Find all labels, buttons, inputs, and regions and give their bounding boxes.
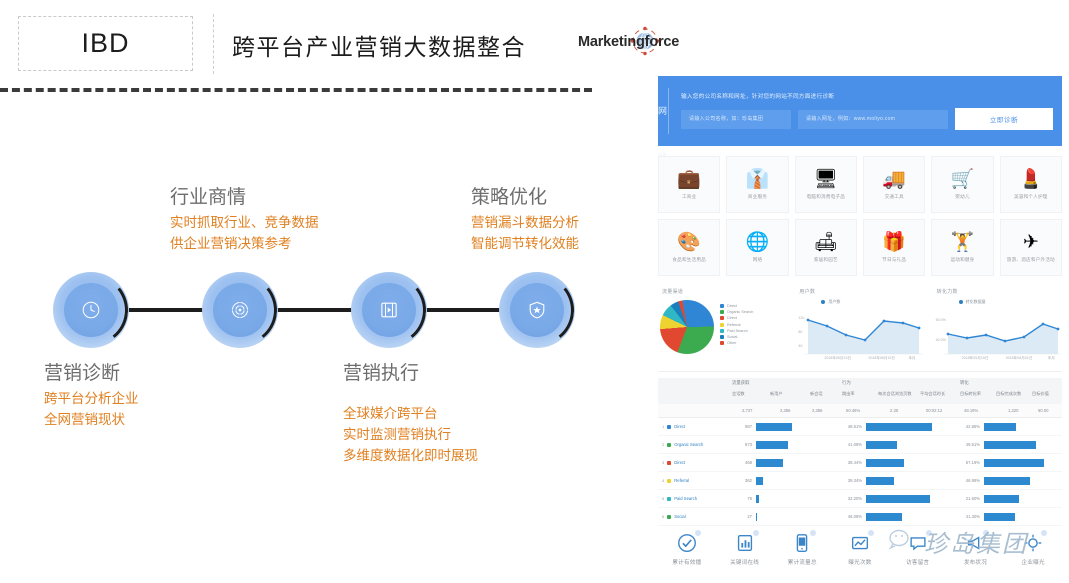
kpi-item[interactable]: 关键词在线	[716, 532, 774, 580]
website-score-tip: 输入您的公司名称和网址，针对您的网站不同方面进行诊断	[681, 92, 1053, 100]
table-group-header: 流量获取 会话数 新用户 新会话 行为 跳出率 每次会话浏览页数 平均会话时长	[658, 378, 1062, 404]
group-lines-3: 全球媒介跨平台 实时监测营销执行 多维度数据化即时展现	[343, 403, 478, 466]
conversion-cell: 49.51%	[958, 441, 1062, 449]
sofa-icon: 🛋	[814, 233, 838, 253]
group-line: 智能调节转化效能	[471, 233, 579, 254]
legend-label: Other	[727, 341, 737, 345]
kpi-item[interactable]: 累计有效播	[658, 532, 716, 580]
logo-wordmark: Marketingforce	[578, 34, 679, 50]
header-divider	[213, 14, 214, 74]
industry-tile[interactable]: 💄 美容和个人护理	[1000, 156, 1062, 213]
kpi-label: 访客留言	[906, 558, 929, 566]
summary-value: 2,737	[730, 404, 768, 417]
acquisition-cell: 468	[730, 459, 840, 467]
area-plot-svg	[936, 308, 1061, 362]
legend-label: Referral	[727, 323, 741, 327]
group-name: 转化	[960, 380, 969, 386]
row-label[interactable]: Direct	[674, 460, 685, 465]
conversion-bar	[984, 477, 1030, 485]
legend-label: 转化数据量	[966, 299, 986, 305]
area-plot-svg	[798, 308, 923, 362]
row-label[interactable]: Direct	[674, 424, 685, 429]
table-row[interactable]: 1Direct98748.51%42.86%	[658, 418, 1062, 436]
conversion-cell: 57.19%	[958, 459, 1062, 467]
legend-dot	[959, 300, 963, 304]
behavior-cell: 38.44%	[840, 459, 958, 467]
acquisition-bar	[756, 459, 783, 467]
area-plot: 120 80 40 2018年05月15日 2018年06月15日 本月	[798, 308, 923, 362]
group-line: 全网营销现状	[44, 409, 139, 430]
shield-star-icon	[526, 299, 548, 321]
megaphone-icon	[964, 532, 986, 554]
badge-dot	[810, 530, 816, 536]
kpi-item[interactable]: 访客留言	[889, 532, 947, 580]
industry-tile[interactable]: 🎨 食品和生活用品	[658, 219, 720, 276]
table-row[interactable]: 4Referral36239.34%46.99%	[658, 472, 1062, 490]
column-header[interactable]: 目标完成次数	[996, 391, 1032, 397]
process-diagram: 营销诊断 跨平台分析企业 全网营销现状 行业商情 实时抓取行业、竞争数据 供企业…	[0, 100, 650, 583]
legend-item: Referral	[720, 323, 753, 327]
row-index: 4	[662, 478, 664, 483]
industry-tile-label: 节日与礼品	[880, 257, 908, 263]
industry-tile-label: 旅游、酒店和户外活动	[1005, 257, 1057, 263]
conversion-bar	[984, 513, 1015, 521]
conversion-bar	[984, 423, 1016, 431]
behavior-value: 32.20%	[840, 496, 862, 501]
industry-tile[interactable]: 👔 商业服务	[726, 156, 788, 213]
acquisition-value: 79	[730, 496, 752, 501]
summary-value: ¥0.00	[1030, 404, 1062, 417]
mobile-icon	[791, 532, 813, 554]
industry-tile-label: 食品和生活用品	[670, 257, 708, 263]
industry-tile[interactable]: 🎁 节日与礼品	[863, 219, 925, 276]
industry-tile-label: 电脑和消费电子品	[805, 194, 847, 200]
row-label-cell: 6Social	[658, 514, 730, 519]
row-index: 2	[662, 442, 664, 447]
industry-tile-label: 家居和园艺	[812, 257, 840, 263]
cosmetics-icon: 💄	[1019, 170, 1043, 190]
row-swatch	[667, 515, 671, 519]
legend-swatch	[720, 316, 724, 320]
table-row[interactable]: 6Social2746.09%41.30%	[658, 508, 1062, 526]
legend-label: Direct	[727, 304, 737, 308]
diagnose-button[interactable]: 立即诊断	[955, 108, 1053, 130]
node-core	[510, 283, 564, 337]
y-tick: 80	[798, 330, 802, 334]
company-name-input[interactable]: 请输入公司名称，如：珍岛集团	[681, 110, 791, 129]
check-circle-icon	[676, 532, 698, 554]
acquisition-cell: 79	[730, 495, 840, 503]
acquisition-value: 27	[730, 514, 752, 519]
column-header[interactable]: 新会话	[810, 391, 842, 397]
conversion-area-chart: 转化力数 转化数据量 50.0% 40	[933, 286, 1062, 371]
slide-header: IBD 跨平台产业营销大数据整合 Marketingforce	[0, 0, 660, 78]
row-label[interactable]: Social	[674, 514, 685, 519]
legend-dot	[821, 300, 825, 304]
group-subs: 会话数 新用户 新会话	[732, 391, 842, 397]
column-header[interactable]: 每次会话浏览页数	[878, 391, 920, 397]
summary-value: 2.35	[876, 404, 918, 417]
row-label-cell: 4Referral	[658, 478, 730, 483]
group-line: 全球媒介跨平台	[343, 403, 478, 424]
group-cell-conversion: 转化 目标转化率 目标完成次数 目标价值	[958, 378, 1062, 404]
acquisition-bar	[756, 423, 792, 431]
kpi-item[interactable]: 企业曝光	[1004, 532, 1062, 580]
group-lines-2: 实时抓取行业、竞争数据 供企业营销决策参考	[170, 212, 319, 254]
kpi-label: 发布状况	[964, 558, 987, 566]
monitor-icon: 🖥	[814, 170, 838, 190]
behavior-bar	[866, 459, 904, 467]
summary-value: 2,386	[808, 404, 840, 417]
process-node-1[interactable]	[53, 272, 129, 348]
row-index: 5	[662, 496, 664, 501]
row-label-cell: 1Direct	[658, 424, 730, 429]
behavior-bar	[866, 513, 902, 521]
y-tick: 50.0%	[936, 318, 946, 322]
behavior-bar	[866, 495, 930, 503]
pie-legend: Direct Organic Search Direct Referral Pa…	[720, 304, 753, 347]
industry-tile-label: 美容和个人护理	[1012, 194, 1050, 200]
video-frame-icon	[378, 299, 400, 321]
group-cell-acquisition: 流量获取 会话数 新用户 新会话	[730, 378, 840, 404]
behavior-bar	[866, 441, 897, 449]
group-line: 营销漏斗数据分析	[471, 212, 579, 233]
conversion-bar	[984, 459, 1044, 467]
legend-swatch	[720, 310, 724, 314]
legend-label: Organic Search	[727, 310, 753, 314]
dashboard-screenshot: 网站评分 输入您的公司名称和网址，针对您的网站不同方面进行诊断 请输入公司名称，…	[650, 70, 1069, 583]
acquisition-bar	[756, 441, 788, 449]
conversion-cell: 42.86%	[958, 423, 1062, 431]
acquisition-cell: 362	[730, 477, 840, 485]
legend-item: Organic Search	[720, 310, 753, 314]
acquisition-cell: 27	[730, 513, 840, 521]
palette-icon: 🎨	[677, 233, 701, 253]
group-line: 供企业营销决策参考	[170, 233, 319, 254]
kpi-row: 累计有效播 关键词在线 累计流量总	[658, 532, 1062, 580]
y-tick: 40	[798, 344, 802, 348]
legend-item: Direct	[720, 304, 753, 308]
table-row[interactable]: 2Organic Search87341.09%49.51%	[658, 436, 1062, 454]
kpi-item[interactable]: 曝光次数	[831, 532, 889, 580]
row-label[interactable]: Paid Search	[674, 496, 697, 501]
legend-swatch	[720, 341, 724, 345]
table-body: 1Direct98748.51%42.86%2Organic Search873…	[658, 418, 1062, 526]
table-row[interactable]: 3Direct46838.44%57.19%	[658, 454, 1062, 472]
conversion-bar	[984, 441, 1036, 449]
x-tick: 本月	[1048, 356, 1055, 361]
row-swatch	[667, 497, 671, 501]
conversion-cell: 21.60%	[958, 495, 1062, 503]
acquisition-bar	[756, 495, 759, 503]
marketingforce-logo: Marketingforce	[578, 24, 703, 64]
industry-tile[interactable]: 🛋 家居和园艺	[795, 219, 857, 276]
behavior-cell: 39.34%	[840, 477, 958, 485]
message-icon	[907, 532, 929, 554]
group-name: 行为	[842, 380, 851, 386]
row-label[interactable]: Referral	[674, 478, 689, 483]
table-row[interactable]: 5Paid Search7932.20%21.60%	[658, 490, 1062, 508]
behavior-value: 48.51%	[840, 424, 862, 429]
column-header[interactable]: 目标转化率	[960, 391, 996, 397]
airplane-icon: ✈	[1023, 233, 1039, 253]
group-title-2: 行业商情	[170, 182, 246, 209]
website-score-form: 请输入公司名称，如：珍岛集团 请输入网址，例如：www.moliyo.com 立…	[681, 108, 1053, 130]
suit-icon: 👔	[746, 170, 770, 190]
legend-label: Direct	[727, 316, 737, 320]
x-tick: 2018年06月01日	[1006, 356, 1033, 361]
process-node-2[interactable]	[202, 272, 278, 348]
pie-graphic	[660, 300, 714, 354]
industry-tile-label: 工商业	[680, 194, 698, 200]
legend-swatch	[720, 304, 724, 308]
summary-value: 1,320	[994, 404, 1030, 417]
summary-value: 2,386	[768, 404, 808, 417]
behavior-value: 39.34%	[840, 478, 862, 483]
behavior-bar	[866, 423, 932, 431]
badge-dot	[695, 530, 701, 536]
industry-tile-label: 交通工具	[883, 194, 906, 200]
row-swatch	[667, 425, 671, 429]
acquisition-cell: 873	[730, 441, 840, 449]
badge-dot	[983, 530, 989, 536]
chart-title: 流量渠道	[662, 288, 787, 295]
group-line: 实时抓取行业、竞争数据	[170, 212, 319, 233]
group-line: 跨平台分析企业	[44, 388, 139, 409]
kpi-label: 关键词在线	[730, 558, 759, 566]
behavior-value: 46.09%	[840, 514, 862, 519]
legend-label: Paid Search	[727, 329, 748, 333]
summary-value: 50.46%	[840, 404, 876, 417]
chart-row: 流量渠道 Direct Organic Search Direct Referr…	[658, 286, 1062, 372]
column-header[interactable]: 跳出率	[842, 391, 878, 397]
column-header[interactable]: 新用户	[770, 391, 810, 397]
industry-tile[interactable]: ✈ 旅游、酒店和户外活动	[1000, 219, 1062, 276]
conversion-value: 49.51%	[958, 442, 980, 447]
kpi-item[interactable]: 累计流量总	[773, 532, 831, 580]
badge-dot	[868, 530, 874, 536]
summary-value: 00:02:12	[918, 404, 958, 417]
legend-swatch	[720, 329, 724, 333]
process-node-3[interactable]	[351, 272, 427, 348]
group-title-4: 策略优化	[471, 182, 547, 209]
legend-item: Direct	[720, 316, 753, 320]
chart-title: 用户数	[799, 288, 924, 295]
row-label-cell: 5Paid Search	[658, 496, 730, 501]
document-chart-icon	[734, 532, 756, 554]
conversion-value: 42.86%	[958, 424, 980, 429]
radar-target-icon	[229, 299, 251, 321]
x-tick: 2018年05月15日	[962, 356, 989, 361]
x-tick: 本月	[908, 356, 915, 361]
group-lines-1: 跨平台分析企业 全网营销现状	[44, 388, 139, 430]
badge-dot	[1041, 530, 1047, 536]
process-node-4[interactable]	[499, 272, 575, 348]
y-tick: 120	[798, 316, 804, 320]
clock-icon	[80, 299, 102, 321]
chart-legend: 用户数	[821, 299, 924, 305]
behavior-value: 41.09%	[840, 442, 862, 447]
stroller-icon: 🛒	[951, 170, 975, 190]
node-core	[64, 283, 118, 337]
x-tick: 2018年05月15日	[824, 356, 851, 361]
behavior-cell: 32.20%	[840, 495, 958, 503]
industry-tile[interactable]: 🌐 网络	[726, 219, 788, 276]
row-swatch	[667, 479, 671, 483]
legend-swatch	[720, 323, 724, 327]
kpi-label: 累计有效播	[672, 558, 701, 566]
area-plot: 50.0% 40.0% 2018年05月15日 2018年06月01日 本月	[936, 308, 1061, 362]
header-dashed-rule	[0, 88, 592, 92]
industry-tile[interactable]: 🖥 电脑和消费电子品	[795, 156, 857, 213]
conversion-cell: 41.30%	[958, 513, 1062, 521]
chart-title: 转化力数	[937, 288, 1062, 295]
conversion-bar	[984, 495, 1019, 503]
conversion-value: 57.19%	[958, 460, 980, 465]
group-cell-blank	[658, 378, 730, 404]
website-score-panel: 网站评分 输入您的公司名称和网址，针对您的网站不同方面进行诊断 请输入公司名称，…	[658, 76, 1062, 146]
website-score-title: 网站评分	[658, 88, 669, 134]
acquisition-bar	[756, 477, 763, 485]
group-title-3: 营销执行	[343, 358, 419, 385]
badge-dot	[926, 530, 932, 536]
industry-tile[interactable]: 💼 工商业	[658, 156, 720, 213]
row-label-cell: 3Direct	[658, 460, 730, 465]
legend-item: Other	[720, 341, 753, 345]
channel-table: 流量获取 会话数 新用户 新会话 行为 跳出率 每次会话浏览页数 平均会话时长	[658, 378, 1062, 526]
conversion-value: 46.99%	[958, 478, 980, 483]
row-swatch	[667, 443, 671, 447]
chart-legend: 转化数据量	[959, 299, 1062, 305]
group-title-1: 营销诊断	[44, 358, 120, 385]
page-title: 跨平台产业营销大数据整合	[232, 28, 526, 62]
gift-icon: 🎁	[882, 233, 906, 253]
behavior-cell: 46.09%	[840, 513, 958, 521]
users-area-chart: 用户数 用户数 120 80	[795, 286, 924, 371]
dumbbell-icon: 🏋	[951, 233, 975, 253]
conversion-value: 21.60%	[958, 496, 980, 501]
truck-icon: 🚚	[882, 170, 906, 190]
column-header[interactable]: 会话数	[732, 391, 770, 397]
group-line: 实时监测营销执行	[343, 424, 478, 445]
row-swatch	[667, 461, 671, 465]
brand-badge-label: IBD	[81, 28, 129, 59]
row-label-cell: 2Organic Search	[658, 442, 730, 447]
column-header[interactable]: 平均会话时长	[920, 391, 960, 397]
node-core	[362, 283, 416, 337]
briefcase-icon: 💼	[677, 170, 701, 190]
row-index: 3	[662, 460, 664, 465]
image-chart-icon	[849, 532, 871, 554]
behavior-value: 38.44%	[840, 460, 862, 465]
row-index: 1	[662, 424, 664, 429]
behavior-bar	[866, 477, 894, 485]
conversion-value: 41.30%	[958, 514, 980, 519]
legend-item: Social	[720, 335, 753, 339]
group-subs: 目标转化率 目标完成次数 目标价值	[960, 391, 1064, 397]
kpi-item[interactable]: 发布状况	[947, 532, 1005, 580]
conversion-cell: 46.99%	[958, 477, 1062, 485]
industry-tile[interactable]: 🚚 交通工具	[863, 156, 925, 213]
table-summary-row: 2,737 2,386 2,386 50.46% 2.35 00:02:12 4…	[658, 404, 1062, 418]
row-index: 6	[662, 514, 664, 519]
website-url-input[interactable]: 请输入网址，例如：www.moliyo.com	[798, 110, 948, 129]
group-line: 多维度数据化即时展现	[343, 445, 478, 466]
industry-tile[interactable]: 🏋 运动和健身	[931, 219, 993, 276]
pie-wrap: Direct Organic Search Direct Referral Pa…	[660, 300, 753, 354]
industry-tile-grid: 💼 工商业 👔 商业服务 🖥 电脑和消费电子品 🚚 交通工具 🛒 婴幼儿 💄	[658, 156, 1062, 276]
group-lines-4: 营销漏斗数据分析 智能调节转化效能	[471, 212, 579, 254]
kpi-label: 累计流量总	[788, 558, 817, 566]
summary-value: 48.19%	[958, 404, 994, 417]
row-label[interactable]: Organic Search	[674, 442, 703, 447]
y-tick: 40.0%	[936, 338, 946, 342]
behavior-cell: 48.51%	[840, 423, 958, 431]
traffic-channel-pie-chart: 流量渠道 Direct Organic Search Direct Referr…	[658, 286, 787, 371]
legend-swatch	[720, 335, 724, 339]
group-cell-behavior: 行为 跳出率 每次会话浏览页数 平均会话时长	[840, 378, 958, 404]
node-core	[213, 283, 267, 337]
industry-tile-label: 商业服务	[746, 194, 769, 200]
acquisition-value: 873	[730, 442, 752, 447]
kpi-label: 企业曝光	[1022, 558, 1045, 566]
x-tick: 2018年06月15日	[868, 356, 895, 361]
legend-label: 用户数	[828, 299, 840, 305]
group-name: 流量获取	[732, 380, 750, 386]
acquisition-bar	[756, 513, 757, 521]
badge-dot	[753, 530, 759, 536]
industry-tile-label: 婴幼儿	[953, 194, 971, 200]
acquisition-value: 362	[730, 478, 752, 483]
slide-root: IBD 跨平台产业营销大数据整合 Marketingforce	[0, 0, 1069, 583]
column-header[interactable]: 目标价值	[1032, 391, 1064, 397]
website-score-body: 输入您的公司名称和网址，针对您的网站不同方面进行诊断 请输入公司名称，如：珍岛集…	[669, 92, 1063, 130]
star-burst-icon	[1022, 532, 1044, 554]
industry-tile[interactable]: 🛒 婴幼儿	[931, 156, 993, 213]
kpi-label: 曝光次数	[848, 558, 871, 566]
acquisition-cell: 987	[730, 423, 840, 431]
acquisition-value: 987	[730, 424, 752, 429]
behavior-cell: 41.09%	[840, 441, 958, 449]
industry-tile-label: 网络	[751, 257, 765, 263]
legend-item: Paid Search	[720, 329, 753, 333]
legend-label: Social	[727, 335, 737, 339]
acquisition-value: 468	[730, 460, 752, 465]
industry-tile-label: 运动和健身	[949, 257, 977, 263]
brand-badge: IBD	[18, 16, 193, 71]
globe-icon: 🌐	[746, 233, 770, 253]
group-subs: 跳出率 每次会话浏览页数 平均会话时长	[842, 391, 960, 397]
